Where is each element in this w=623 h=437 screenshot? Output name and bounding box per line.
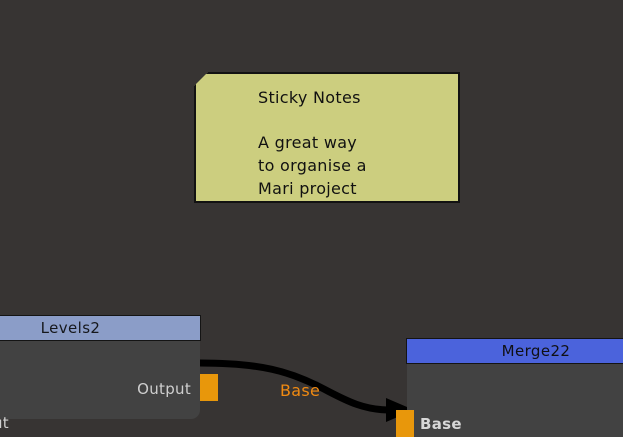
node-merge22-title[interactable]: Merge22 bbox=[406, 338, 623, 364]
node-levels2-body[interactable]: Output ut bbox=[0, 341, 200, 419]
sticky-note-body: A great way to organise a Mari project bbox=[258, 131, 444, 200]
sticky-note-content: Sticky Notes A great way to organise a M… bbox=[196, 74, 458, 201]
sticky-note[interactable]: Sticky Notes A great way to organise a M… bbox=[194, 72, 460, 203]
sticky-note-title: Sticky Notes bbox=[258, 86, 444, 109]
connection-label-base: Base bbox=[280, 381, 320, 400]
node-merge22-base-label: Base bbox=[420, 415, 462, 433]
node-levels2-title[interactable]: Levels2 bbox=[0, 315, 201, 341]
node-merge22-base-port[interactable] bbox=[396, 410, 414, 437]
node-levels2-output-port[interactable] bbox=[200, 374, 218, 401]
node-merge22[interactable]: Merge22 Base Outp bbox=[406, 338, 623, 437]
node-merge22-body[interactable]: Base Outp bbox=[407, 364, 623, 437]
node-levels2[interactable]: Levels2 Output ut bbox=[0, 315, 201, 419]
node-levels2-input-label: ut bbox=[0, 414, 9, 432]
node-graph-canvas[interactable]: Sticky Notes A great way to organise a M… bbox=[0, 0, 623, 437]
node-levels2-output-label: Output bbox=[137, 380, 191, 398]
